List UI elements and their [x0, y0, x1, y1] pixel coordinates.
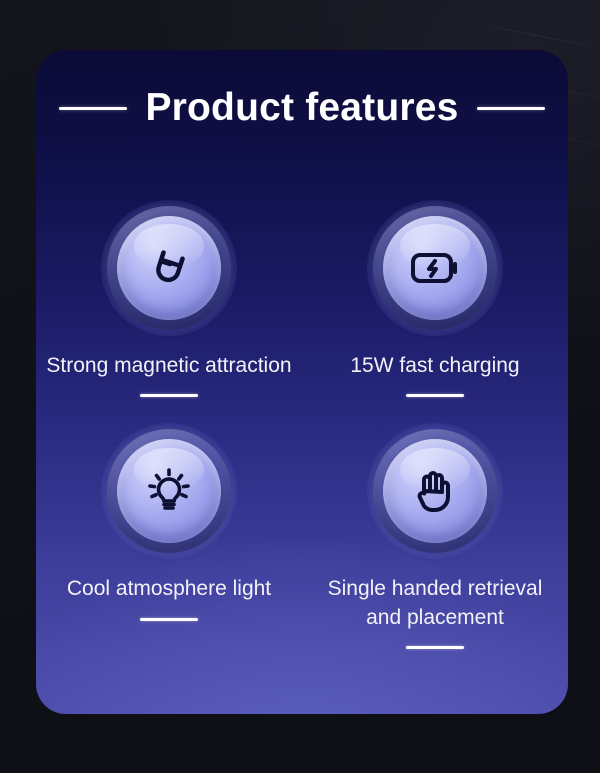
- feature-underline: [140, 618, 198, 621]
- feature-label: 15W fast charging: [350, 352, 519, 380]
- feature-item[interactable]: Strong magnetic attraction: [36, 200, 302, 397]
- feature-underline: [140, 394, 198, 397]
- section-header: Product features: [36, 86, 568, 130]
- feature-underline: [406, 646, 464, 649]
- feature-label: Single handed retrieval and placement: [310, 575, 560, 632]
- battery-charging-icon: [409, 247, 461, 289]
- features-grid: Strong magnetic attraction: [36, 200, 568, 649]
- feature-item[interactable]: Cool atmosphere light: [36, 423, 302, 649]
- feature-badge: [367, 200, 503, 336]
- feature-label: Cool atmosphere light: [67, 575, 271, 603]
- feature-item[interactable]: 15W fast charging: [302, 200, 568, 397]
- feature-item[interactable]: Single handed retrieval and placement: [302, 423, 568, 649]
- page-title: Product features: [145, 86, 458, 130]
- background-streak: [470, 22, 600, 52]
- feature-badge: [367, 423, 503, 559]
- open-hand-icon: [412, 466, 458, 516]
- product-features-card: Product features: [36, 50, 568, 714]
- magnet-icon: [145, 244, 193, 292]
- feature-badge: [101, 423, 237, 559]
- feature-badge-face: [383, 216, 487, 320]
- lightbulb-icon: [144, 466, 194, 516]
- feature-badge-face: [383, 439, 487, 543]
- feature-badge-face: [117, 439, 221, 543]
- feature-underline: [406, 394, 464, 397]
- feature-badge: [101, 200, 237, 336]
- feature-label: Strong magnetic attraction: [46, 352, 291, 380]
- page-root: Product features: [0, 0, 600, 773]
- feature-badge-face: [117, 216, 221, 320]
- title-rule-left: [59, 107, 127, 110]
- title-rule-right: [477, 107, 545, 110]
